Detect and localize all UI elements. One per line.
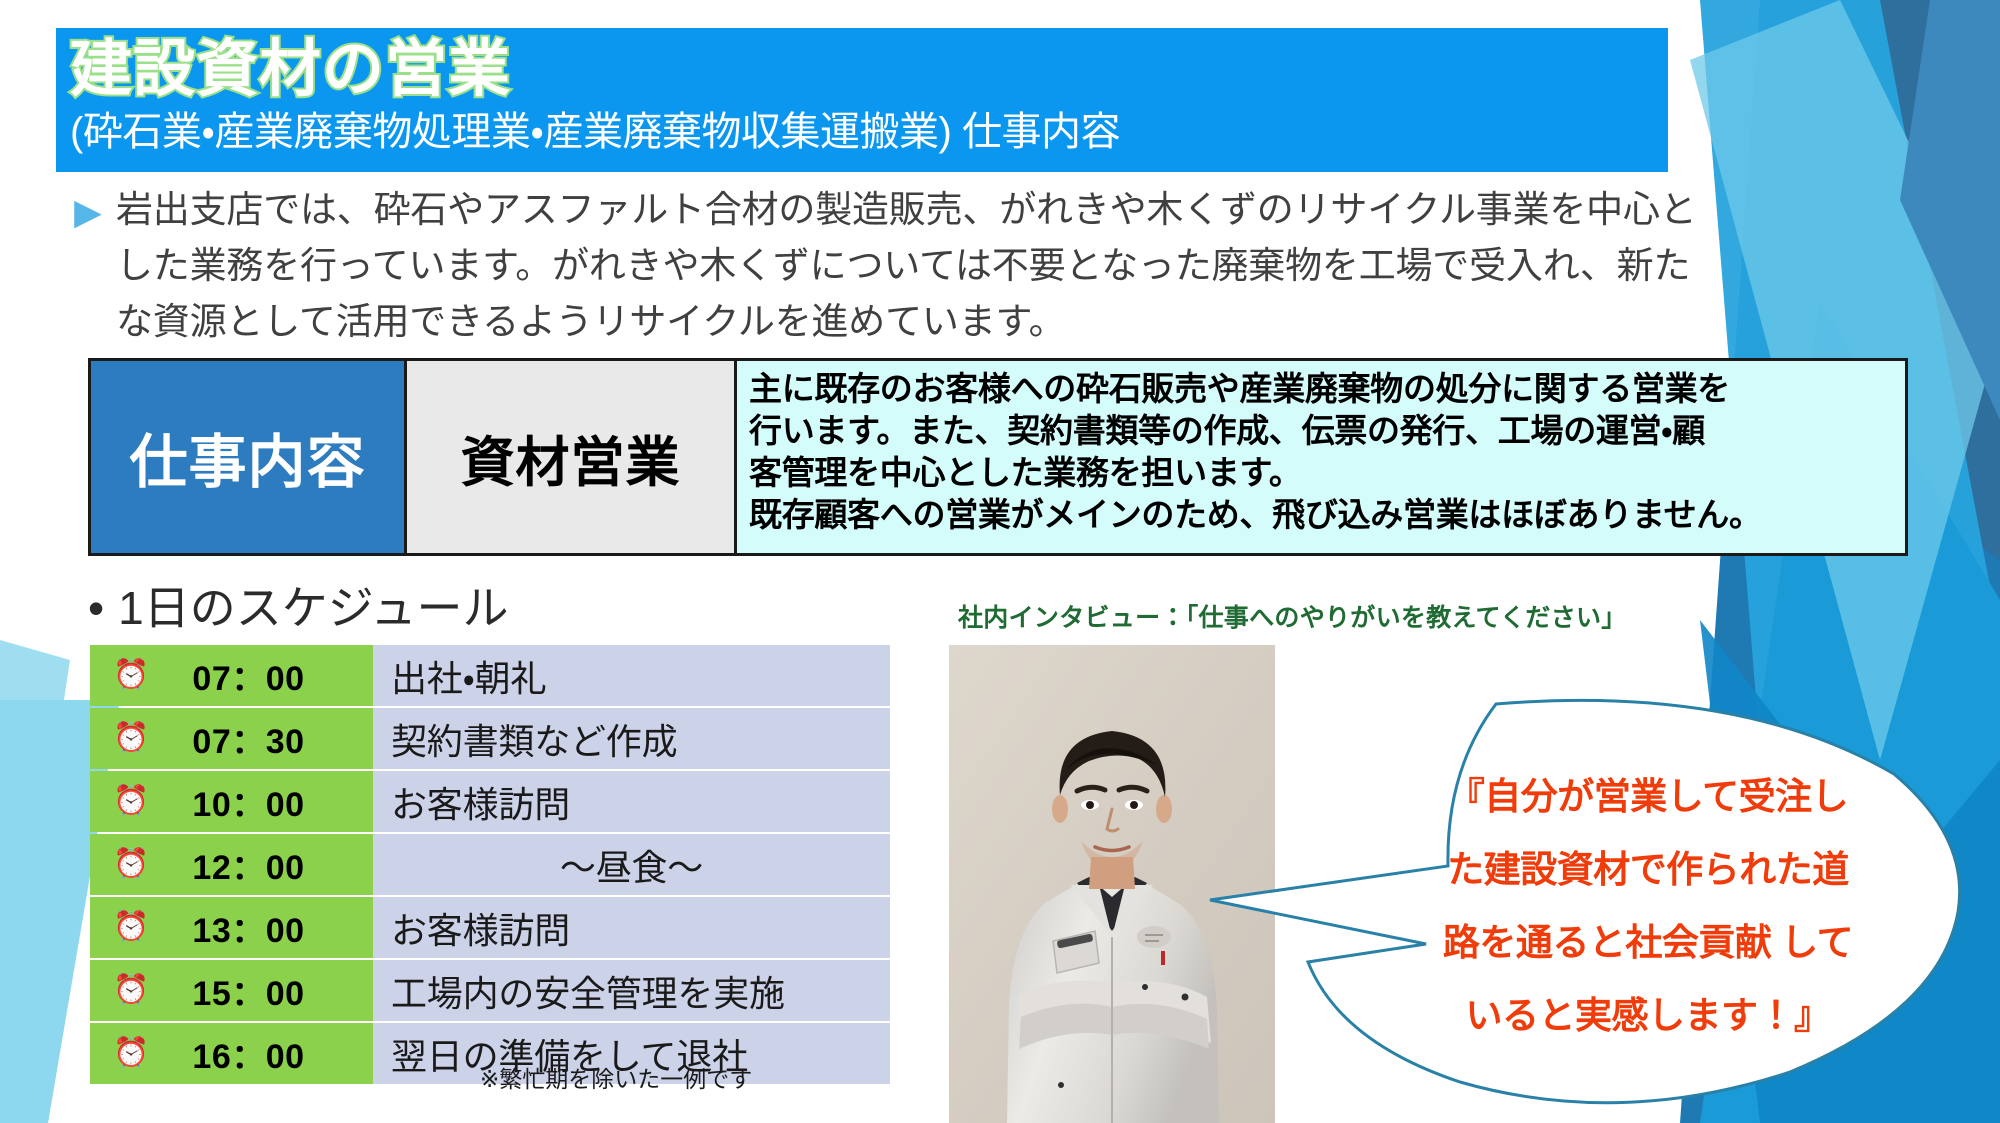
schedule-time-cell: ⏰13：00 bbox=[90, 897, 373, 958]
schedule-task-cell: 工場内の安全管理を実施 bbox=[373, 960, 890, 1021]
schedule-row: ⏰07：30契約書類など作成 bbox=[90, 708, 890, 769]
schedule-time-cell: ⏰12：00 bbox=[90, 834, 373, 895]
slide-canvas: 建設資材の営業 (砕石業・産業廃棄物処理業・産業廃棄物収集運搬業) 仕事内容 ▶… bbox=[0, 0, 2000, 1123]
quote-line: 路を通ると社会貢献 して bbox=[1413, 906, 1883, 979]
schedule-task-cell: 契約書類など作成 bbox=[373, 708, 890, 769]
quote-line: いると実感します！』 bbox=[1413, 979, 1883, 1052]
bullet-dot-icon: • bbox=[88, 578, 104, 638]
job-content-table: 仕事内容 資材営業 主に既存のお客様への砕石販売や産業廃棄物の処分に関する営業を… bbox=[88, 358, 1908, 556]
job-table-label: 仕事内容 bbox=[91, 361, 407, 553]
quote-line: 『自分が営業して受注し bbox=[1413, 760, 1883, 833]
schedule-time-label: 16：00 bbox=[158, 1029, 373, 1078]
intro-paragraph: ▶ 岩出支店では、砕石やアスファルト合材の製造販売、がれきや木くずのリサイクル事… bbox=[60, 182, 1760, 350]
alarm-clock-icon: ⏰ bbox=[104, 1039, 158, 1068]
schedule-note: ※繁忙期を除いた一例です bbox=[480, 1060, 752, 1094]
schedule-task-cell: お客様訪問 bbox=[373, 897, 890, 958]
intro-line: した業務を行っています。がれきや木くずについては不要となった廃棄物を工場で受入れ… bbox=[116, 238, 1756, 294]
schedule-table: ⏰07：00出社・朝礼⏰07：30契約書類など作成⏰10：00お客様訪問⏰12：… bbox=[90, 645, 890, 1086]
alarm-clock-icon: ⏰ bbox=[104, 661, 158, 690]
schedule-row: ⏰12：00〜昼食〜 bbox=[90, 834, 890, 895]
intro-line: 岩出支店では、砕石やアスファルト合材の製造販売、がれきや木くずのリサイクル事業を… bbox=[116, 182, 1756, 238]
schedule-time-label: 10：00 bbox=[158, 777, 373, 826]
intro-line: な資源として活用できるようリサイクルを進めています。 bbox=[116, 294, 1756, 350]
schedule-time-label: 07：00 bbox=[158, 651, 373, 700]
schedule-time-label: 07：30 bbox=[158, 714, 373, 763]
alarm-clock-icon: ⏰ bbox=[104, 850, 158, 879]
schedule-time-label: 13：00 bbox=[158, 903, 373, 952]
schedule-task-cell: 出社・朝礼 bbox=[373, 645, 890, 706]
schedule-time-cell: ⏰07：30 bbox=[90, 708, 373, 769]
page-title: 建設資材の営業 bbox=[70, 34, 1668, 106]
alarm-clock-icon: ⏰ bbox=[104, 724, 158, 753]
intro-text: 岩出支店では、砕石やアスファルト合材の製造販売、がれきや木くずのリサイクル事業を… bbox=[116, 182, 1756, 350]
quote-line: た建設資材で作られた道 bbox=[1413, 833, 1883, 906]
schedule-task-cell: 〜昼食〜 bbox=[373, 834, 890, 895]
schedule-heading: •1日のスケジュール bbox=[88, 578, 508, 638]
title-banner: 建設資材の営業 (砕石業・産業廃棄物処理業・産業廃棄物収集運搬業) 仕事内容 bbox=[56, 28, 1668, 172]
schedule-time-cell: ⏰07：00 bbox=[90, 645, 373, 706]
schedule-row: ⏰15：00工場内の安全管理を実施 bbox=[90, 960, 890, 1021]
job-desc-line: 既存顧客への営業がメインのため、飛び込み営業はほぼありません。 bbox=[749, 494, 1895, 536]
job-table-description: 主に既存のお客様への砕石販売や産業廃棄物の処分に関する営業を 行います。また、契… bbox=[737, 361, 1905, 553]
schedule-row: ⏰10：00お客様訪問 bbox=[90, 771, 890, 832]
alarm-clock-icon: ⏰ bbox=[104, 976, 158, 1005]
schedule-time-cell: ⏰16：00 bbox=[90, 1023, 373, 1084]
page-subtitle: (砕石業・産業廃棄物処理業・産業廃棄物収集運搬業) 仕事内容 bbox=[70, 106, 1668, 158]
alarm-clock-icon: ⏰ bbox=[104, 787, 158, 816]
schedule-time-cell: ⏰15：00 bbox=[90, 960, 373, 1021]
job-desc-line: 客管理を中心とした業務を担います。 bbox=[749, 452, 1895, 494]
triangle-bullet-icon: ▶ bbox=[60, 182, 116, 240]
interview-quote: 『自分が営業して受注し た建設資材で作られた道 路を通ると社会貢献 して いると… bbox=[1413, 760, 1883, 1052]
schedule-row: ⏰07：00出社・朝礼 bbox=[90, 645, 890, 706]
job-desc-line: 行います。また、契約書類等の作成、伝票の発行、工場の運営・顧 bbox=[749, 410, 1895, 452]
schedule-row: ⏰13：00お客様訪問 bbox=[90, 897, 890, 958]
schedule-time-label: 15：00 bbox=[158, 966, 373, 1015]
schedule-heading-label: 1日のスケジュール bbox=[118, 582, 508, 634]
schedule-task-cell: お客様訪問 bbox=[373, 771, 890, 832]
job-desc-line: 主に既存のお客様への砕石販売や産業廃棄物の処分に関する営業を bbox=[749, 368, 1895, 410]
schedule-time-cell: ⏰10：00 bbox=[90, 771, 373, 832]
job-table-role: 資材営業 bbox=[407, 361, 737, 553]
alarm-clock-icon: ⏰ bbox=[104, 913, 158, 942]
schedule-time-label: 12：00 bbox=[158, 840, 373, 889]
interview-heading: 社内インタビュー：「仕事へのやりがいを教えてください」 bbox=[958, 598, 1627, 634]
